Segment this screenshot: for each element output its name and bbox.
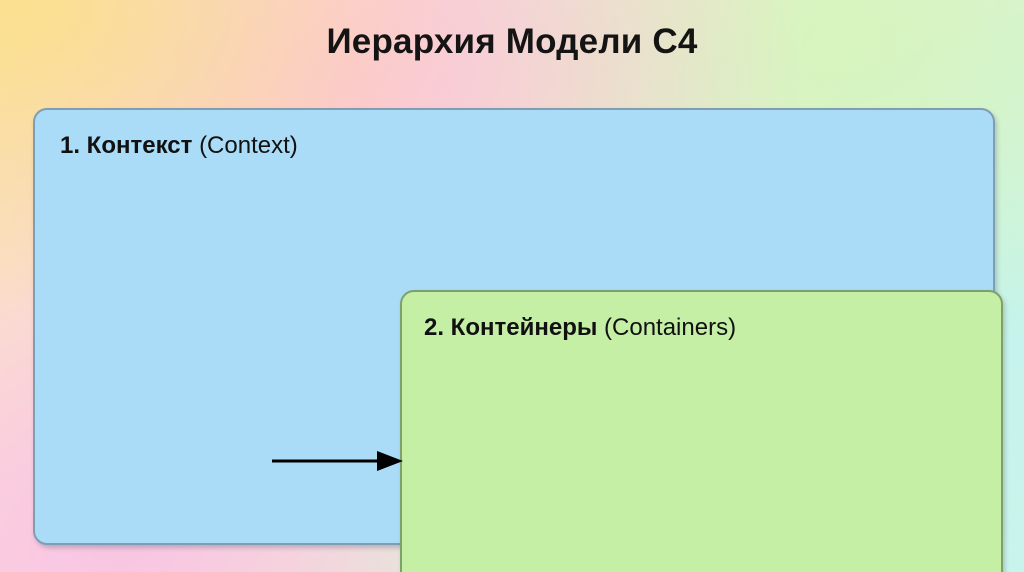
- level-box-context[interactable]: 1. Контекст (Context) 2. Контейнеры (Con…: [33, 108, 995, 545]
- level-label-containers: 2. Контейнеры (Containers): [424, 314, 736, 342]
- level-label-containers-en: (Containers): [604, 314, 736, 341]
- level-label-containers-ru: 2. Контейнеры: [424, 314, 604, 341]
- level-label-context: 1. Контекст (Context): [60, 132, 298, 160]
- level-label-context-en: (Context): [199, 132, 298, 159]
- level-box-containers[interactable]: 2. Контейнеры (Containers) 3. Компоненты…: [400, 290, 1003, 572]
- slide-canvas: Иерархия Модели C4 1. Контекст (Context)…: [0, 0, 1024, 572]
- arrow-context-to-containers-icon: [271, 448, 407, 474]
- page-title: Иерархия Модели C4: [0, 22, 1024, 62]
- level-label-context-ru: 1. Контекст: [60, 132, 199, 159]
